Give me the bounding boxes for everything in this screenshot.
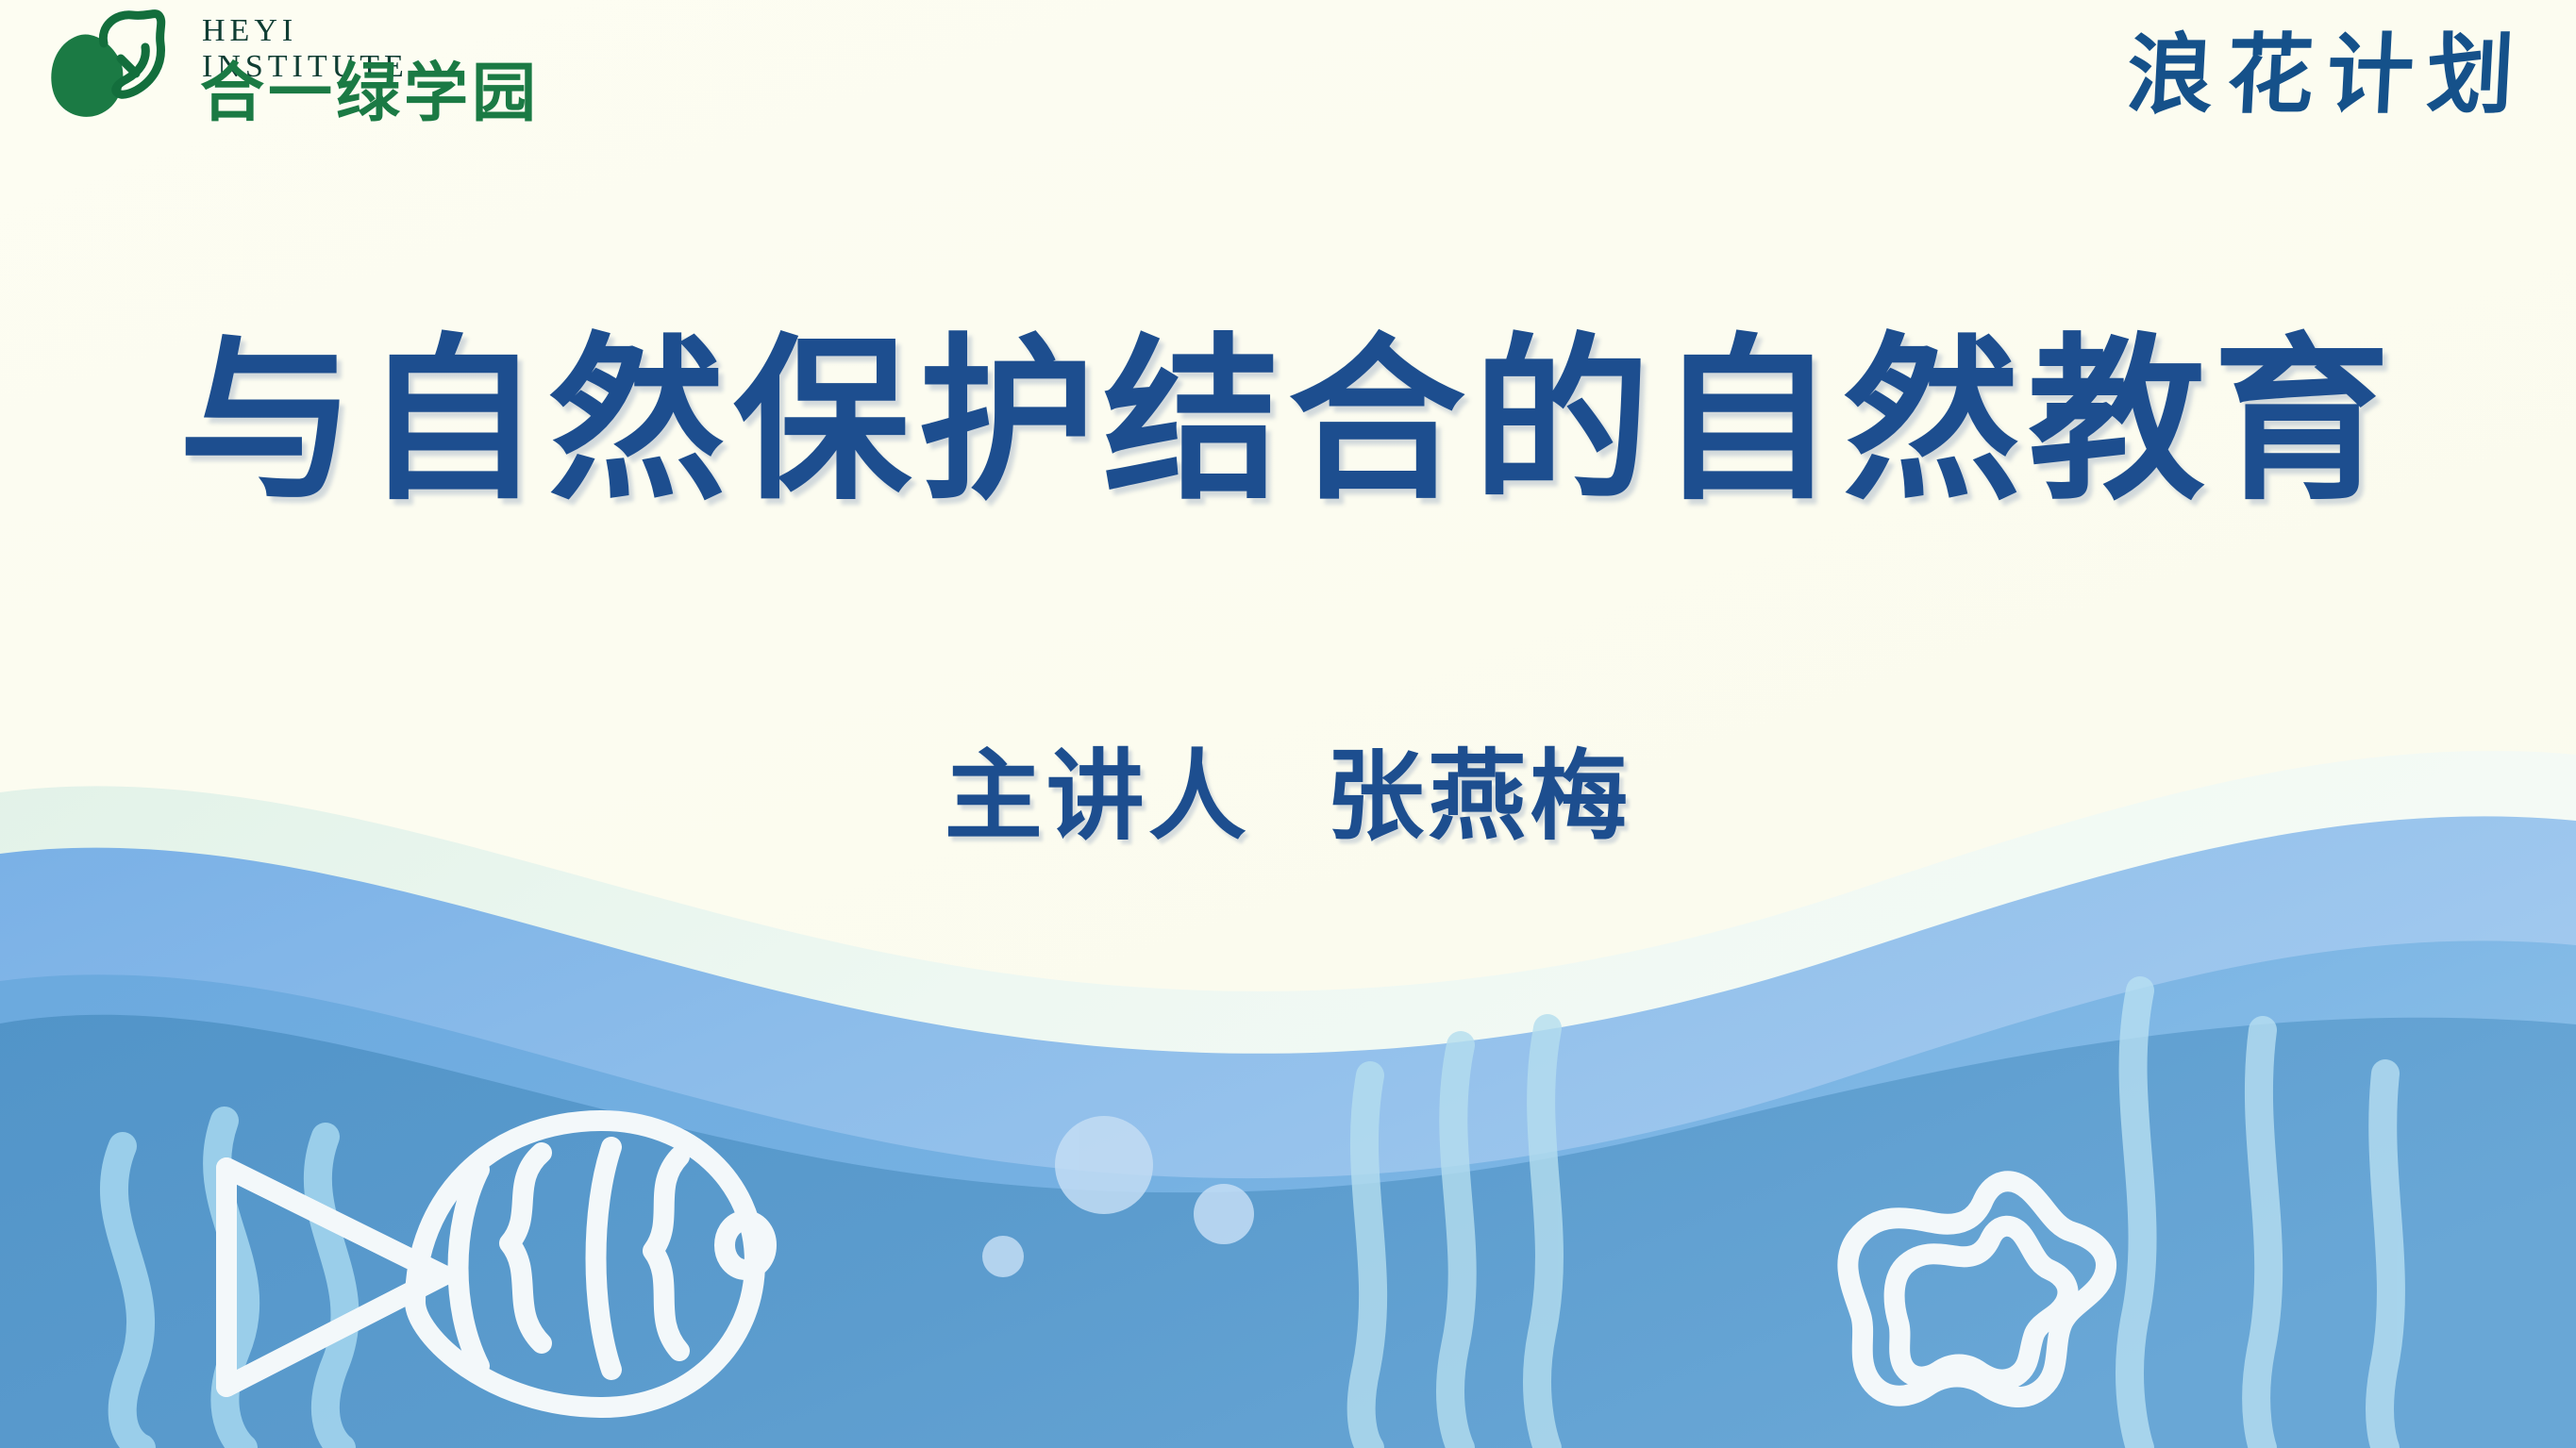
presentation-slide: HEYI INSTITUTE 合一绿学园 浪花计划 与自然保护结合的自然教育 主…	[0, 0, 2576, 1448]
heyi-institute-logo: HEYI INSTITUTE 合一绿学园	[42, 8, 702, 125]
logo-chinese-name: 合一绿学园	[200, 62, 540, 126]
page-title: 与自然保护结合的自然教育	[0, 328, 2576, 514]
leaf-bean-mark-icon	[42, 9, 183, 123]
speaker-line: 主讲人 张燕梅	[0, 745, 2576, 848]
langhua-program-logo: 浪花计划	[2125, 32, 2530, 119]
wave-background	[0, 0, 2576, 1448]
logo-english-line-1: HEYI	[202, 15, 579, 47]
